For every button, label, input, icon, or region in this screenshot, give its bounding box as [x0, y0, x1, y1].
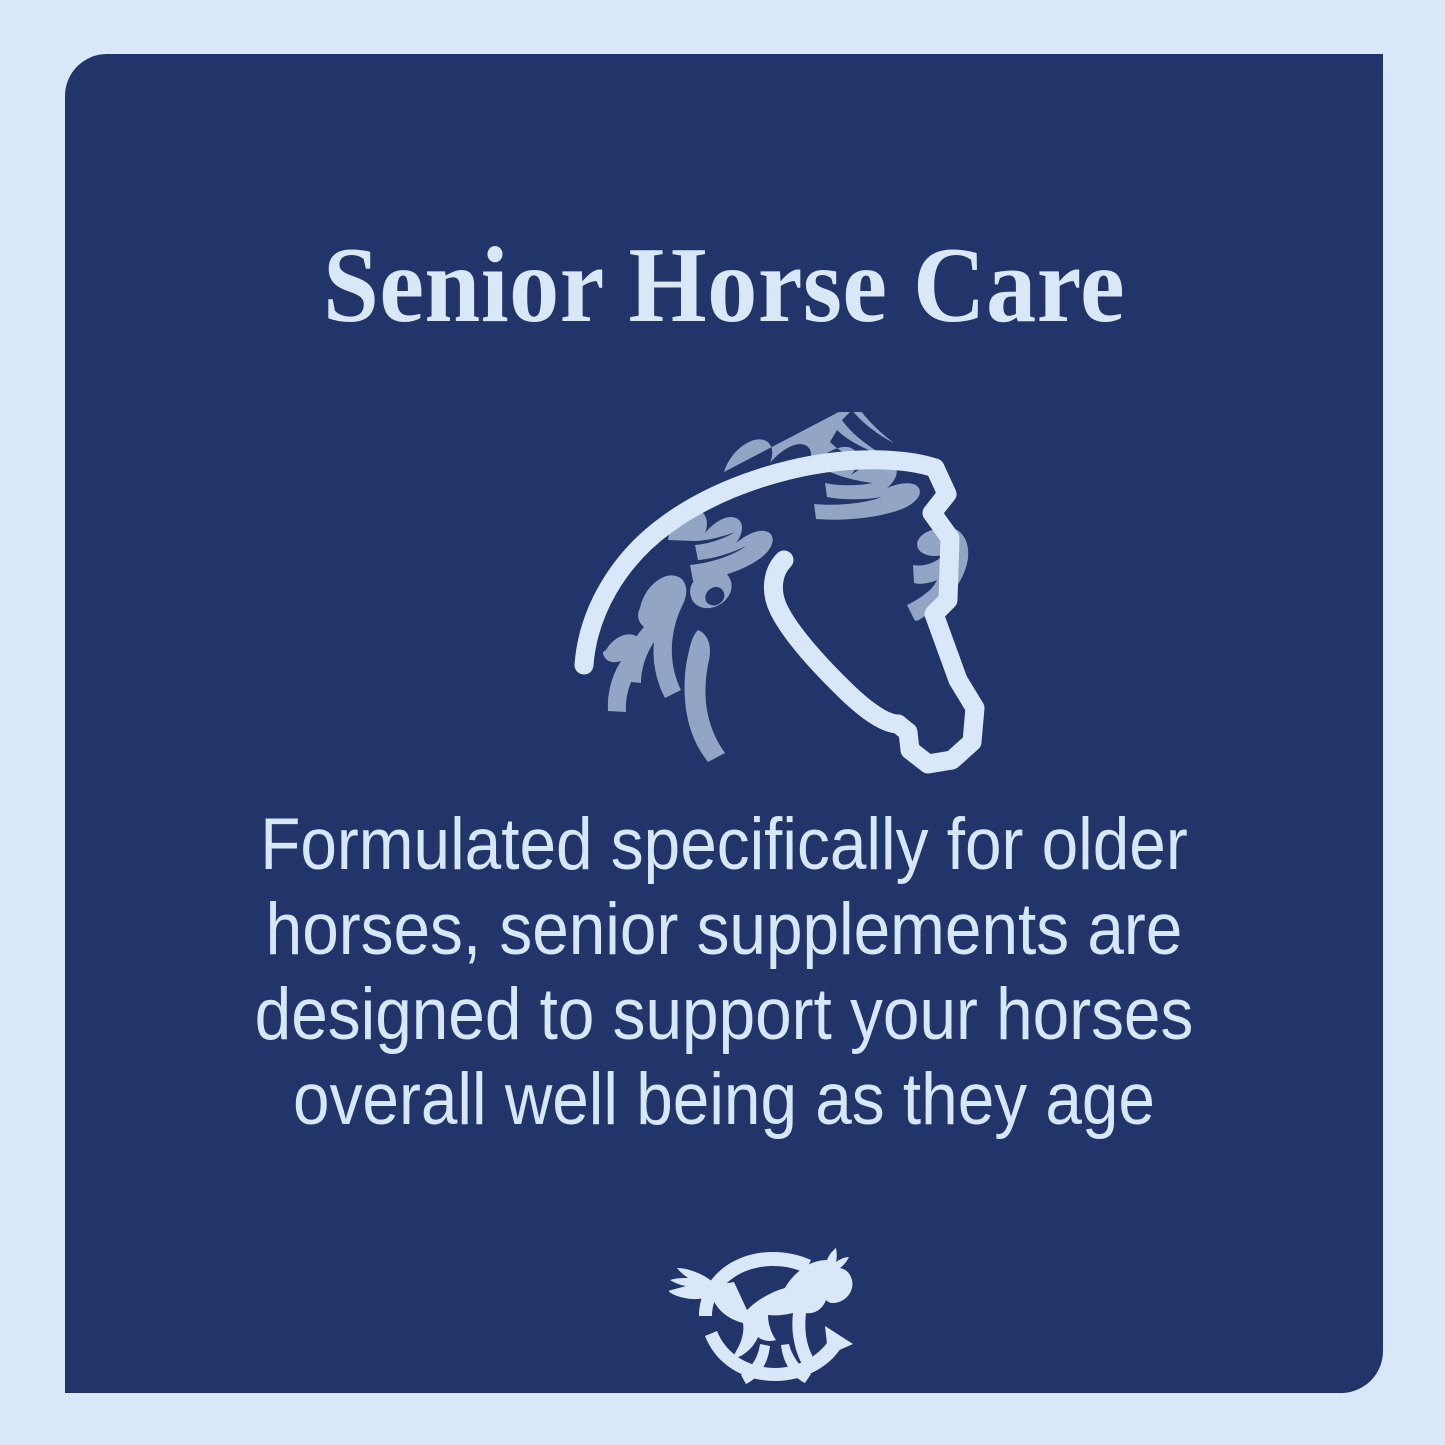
body-line-4: overall well being as they age [239, 1057, 1209, 1142]
poster-canvas: Senior Horse Care [0, 0, 1445, 1445]
page-title: Senior Horse Care [111, 232, 1337, 340]
galloping-horse-circular-arrow-icon [669, 1248, 853, 1384]
body-line-3: designed to support your horses [239, 972, 1209, 1057]
horse-head-illustration [548, 412, 1038, 778]
navy-card: Senior Horse Care [65, 54, 1383, 1393]
body-copy: Formulated specifically for older horses… [239, 802, 1209, 1142]
brand-logo [669, 1240, 881, 1390]
body-line-1: Formulated specifically for older [239, 802, 1209, 887]
body-line-2: horses, senior supplements are [239, 887, 1209, 972]
